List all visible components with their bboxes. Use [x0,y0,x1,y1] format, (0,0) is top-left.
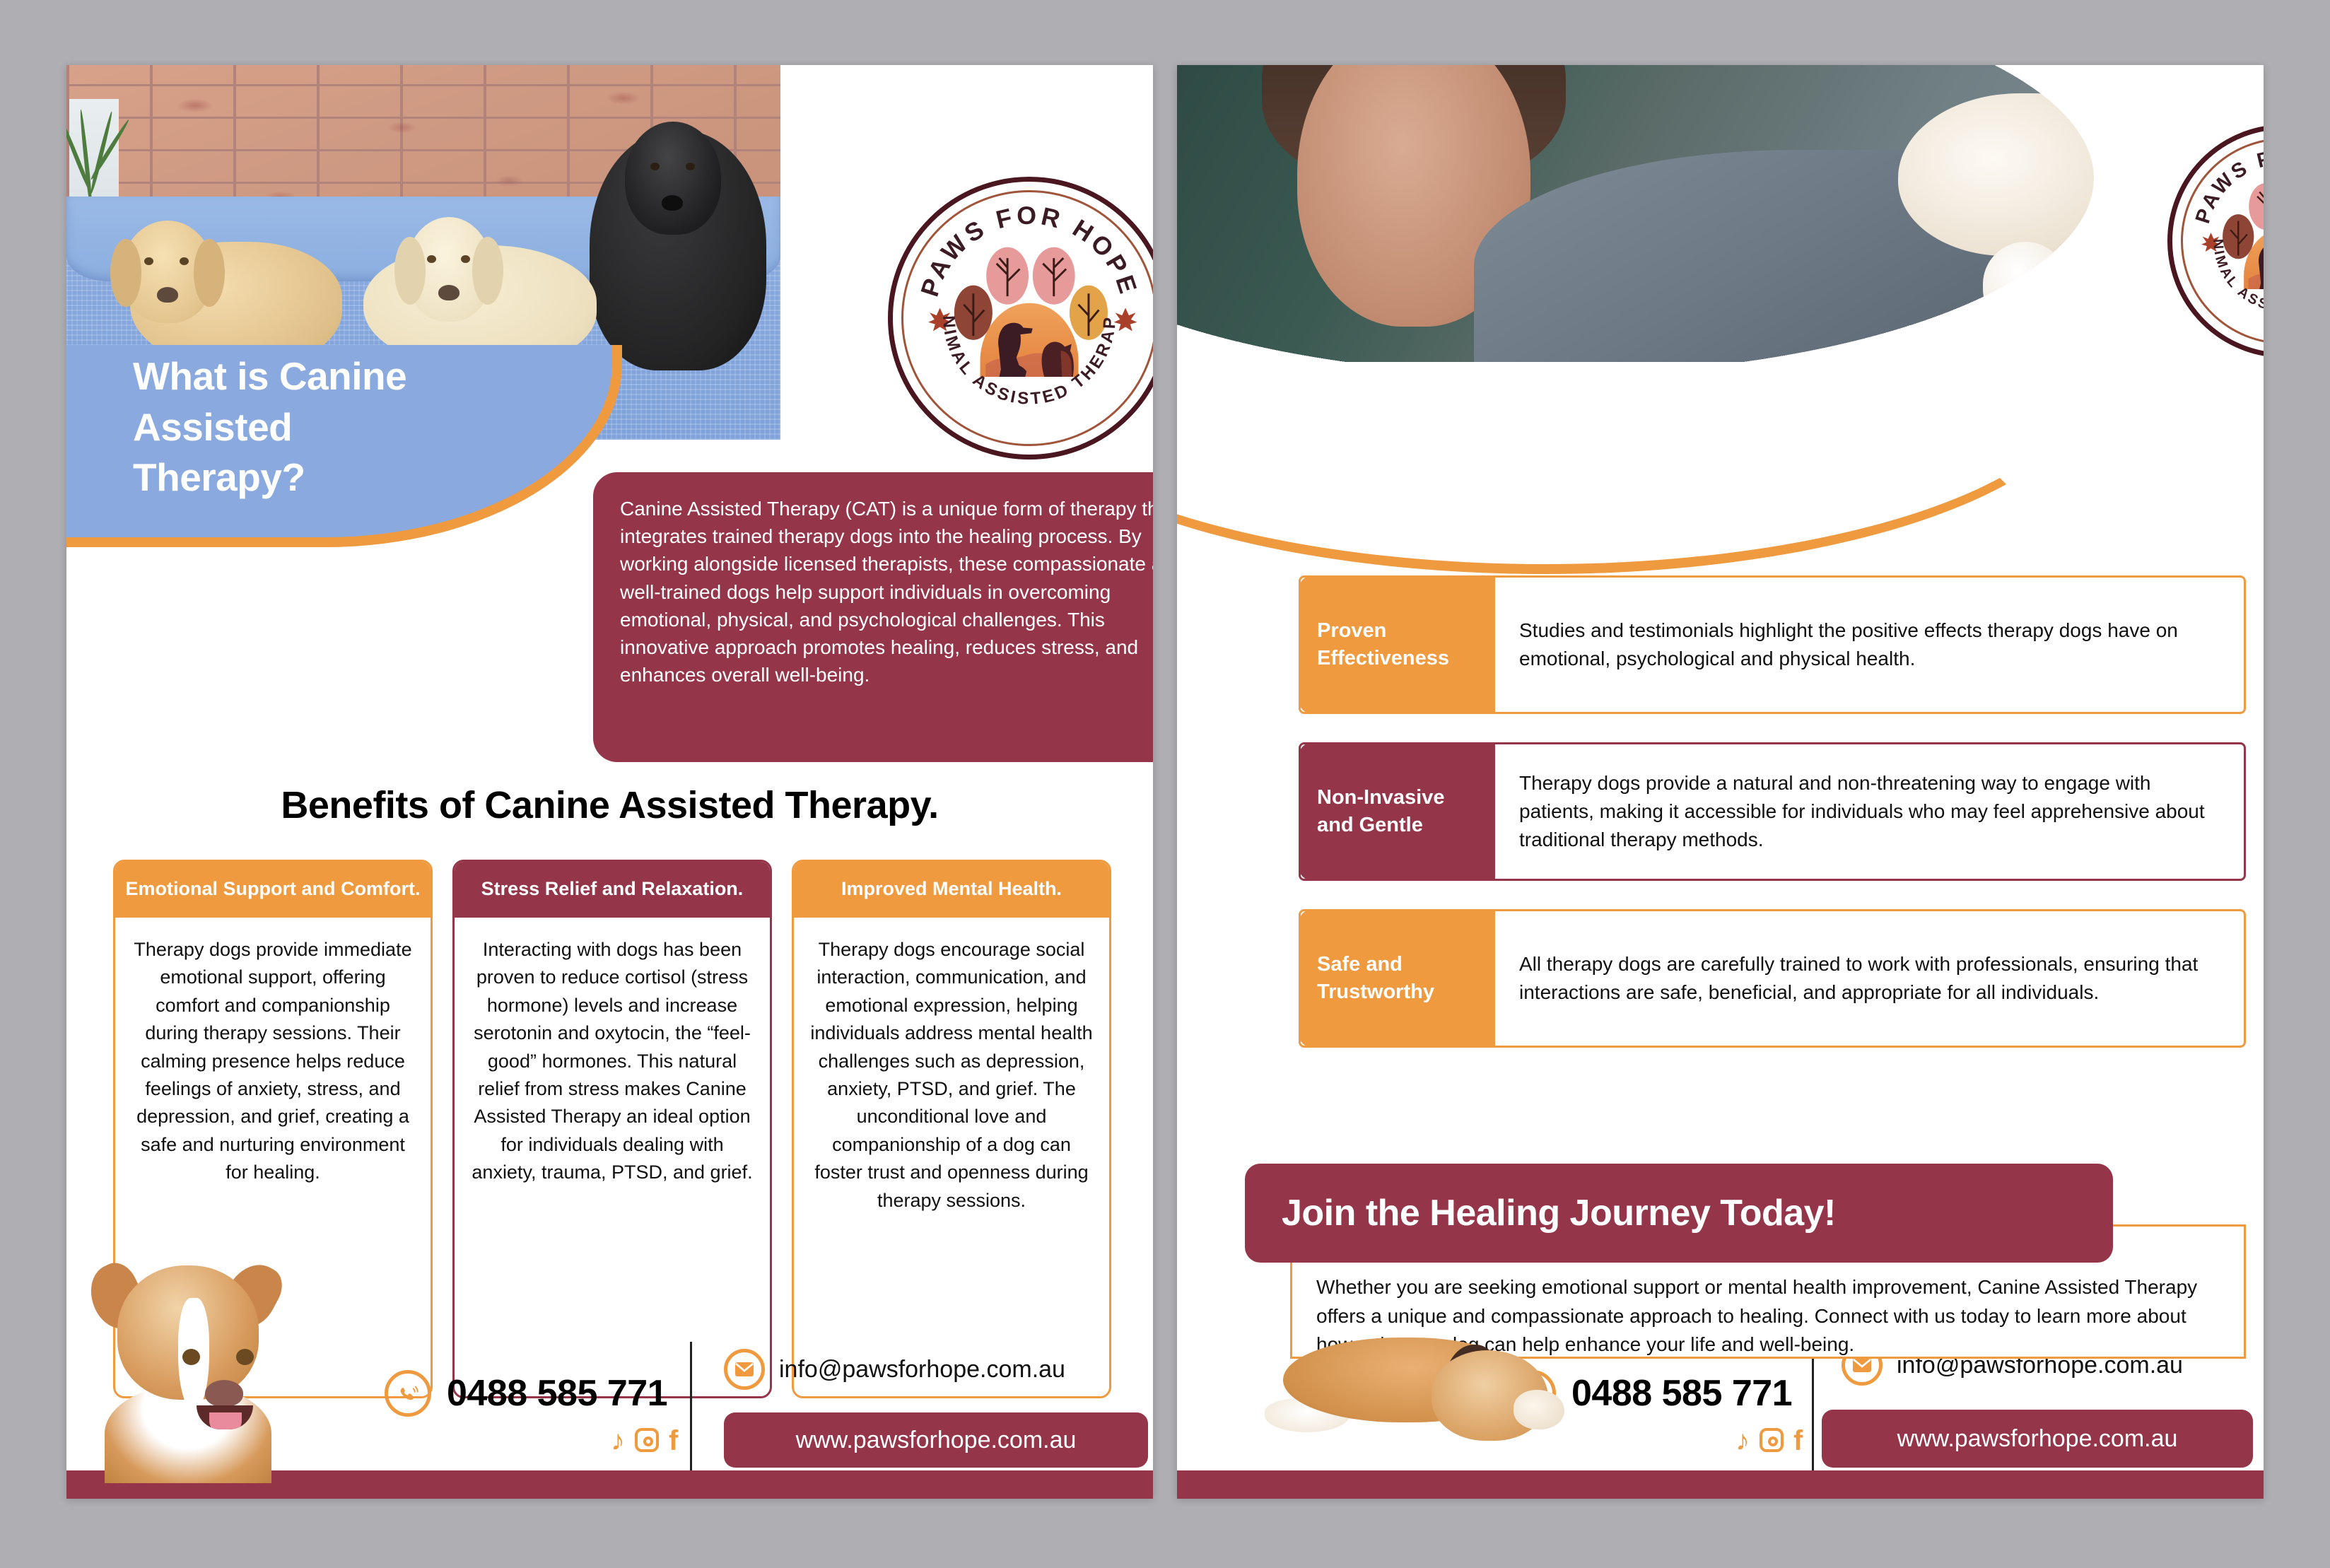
page-title-right: Why Choose Canine Assisted Therapy? [1251,385,1552,544]
footer-bottom-bar [1177,1470,2264,1499]
feature-label: Non-Invasive and Gentle [1299,742,1495,881]
feature-row-proven-effectiveness: Proven Effectiveness Studies and testimo… [1299,575,2246,714]
cream-labrador-middle-head [406,217,492,322]
logo-artwork: PAWS FOR HOPE ANIMAL ASSISTED THERAPY [2172,129,2264,353]
cta-heading-banner: Join the Healing Journey Today! [1245,1164,2113,1263]
flyer-page-left: What is Canine Assisted Therapy? Canine … [66,65,1153,1499]
page-title-left-line2: Assisted [133,402,557,453]
intro-paragraph-text: Canine Assisted Therapy (CAT) is a uniqu… [620,498,1153,686]
dog-nose [205,1380,243,1407]
flyer-page-right: Why Choose Canine Assisted Therapy? [1177,65,2264,1499]
footer-divider [690,1342,692,1470]
facebook-icon[interactable]: f [1793,1425,1803,1457]
feature-body: Therapy dogs provide a natural and non-t… [1495,744,2244,879]
benefit-card-title: Stress Relief and Relaxation. [455,862,770,918]
golden-labrador-left-head [122,221,213,323]
feature-body: Studies and testimonials highlight the p… [1495,578,2244,712]
feature-label: Proven Effectiveness [1299,575,1495,714]
email-address[interactable]: info@pawsforhope.com.au [779,1356,1065,1383]
benefit-card-body: Therapy dogs provide immediate emotional… [115,918,431,1201]
cta-heading-text: Join the Healing Journey Today! [1282,1192,1836,1234]
instagram-icon[interactable] [635,1428,659,1452]
feature-row-non-invasive: Non-Invasive and Gentle Therapy dogs pro… [1299,742,2246,881]
phone-row[interactable]: 0488 585 771 [385,1370,667,1417]
phone-number[interactable]: 0488 585 771 [1571,1372,1792,1415]
tiktok-icon[interactable]: ♪ [611,1425,625,1457]
dog-snout [1514,1390,1564,1429]
dog-eye-left [182,1349,200,1365]
benefit-card-body: Interacting with dogs has been proven to… [455,918,770,1201]
website-url: www.pawsforhope.com.au [1897,1425,2178,1453]
benefits-heading: Benefits of Canine Assisted Therapy. [66,783,1153,827]
intro-paragraph-card: Canine Assisted Therapy (CAT) is a uniqu… [593,472,1153,762]
feature-body: All therapy dogs are carefully trained t… [1495,911,2244,1046]
logo-top-text: PAWS FOR HOPE [915,201,1144,300]
feature-row-safe-trustworthy: Safe and Trustworthy All therapy dogs ar… [1299,909,2246,1048]
envelope-icon [724,1349,765,1390]
facebook-icon[interactable]: f [669,1425,678,1457]
website-button[interactable]: www.pawsforhope.com.au [1822,1410,2253,1468]
lying-dog-cutout-photo [1255,1316,1552,1465]
logo-badge: PAWS FOR HOPE ANIMAL ASSISTED THERAPY [888,177,1153,460]
dog-tongue [209,1412,242,1429]
svg-text:PAWS FOR HOPE: PAWS FOR HOPE [915,201,1144,300]
dog-eye-right [236,1349,254,1365]
page-title-left-line3: Therapy? [133,452,557,503]
benefit-card-body: Therapy dogs encourage social interactio… [794,918,1109,1229]
logo-artwork: PAWS FOR HOPE ANIMAL ASSISTED THERAPY [893,182,1153,455]
social-links[interactable]: ♪ f [1735,1425,1803,1457]
website-url: www.pawsforhope.com.au [796,1427,1077,1454]
page-title-right-line1: Why Choose [1251,385,1552,438]
logo-badge: PAWS FOR HOPE ANIMAL ASSISTED THERAPY [2167,124,2264,358]
page-title-left-line1: What is Canine [133,351,557,402]
social-links[interactable]: ♪ f [611,1425,678,1457]
phone-number[interactable]: 0488 585 771 [447,1372,667,1415]
email-row[interactable]: info@pawsforhope.com.au [724,1349,1065,1390]
dog-head [117,1265,259,1400]
page-title-right-line3: Therapy? [1251,491,1552,544]
dog-cutout-photo [81,1237,293,1470]
benefit-card-title: Improved Mental Health. [794,862,1109,918]
benefit-card-title: Emotional Support and Comfort. [115,862,431,918]
instagram-icon[interactable] [1760,1428,1784,1452]
tiktok-icon[interactable]: ♪ [1735,1425,1750,1457]
phone-ringing-icon [385,1370,431,1417]
page-title-right-line2: Canine Assisted [1251,438,1552,491]
black-labrador-head [625,122,721,235]
website-button[interactable]: www.pawsforhope.com.au [724,1412,1148,1468]
photo-curve-mask [1177,65,2264,369]
feature-label: Safe and Trustworthy [1299,909,1495,1048]
page-title-left: What is Canine Assisted Therapy? [133,351,557,503]
